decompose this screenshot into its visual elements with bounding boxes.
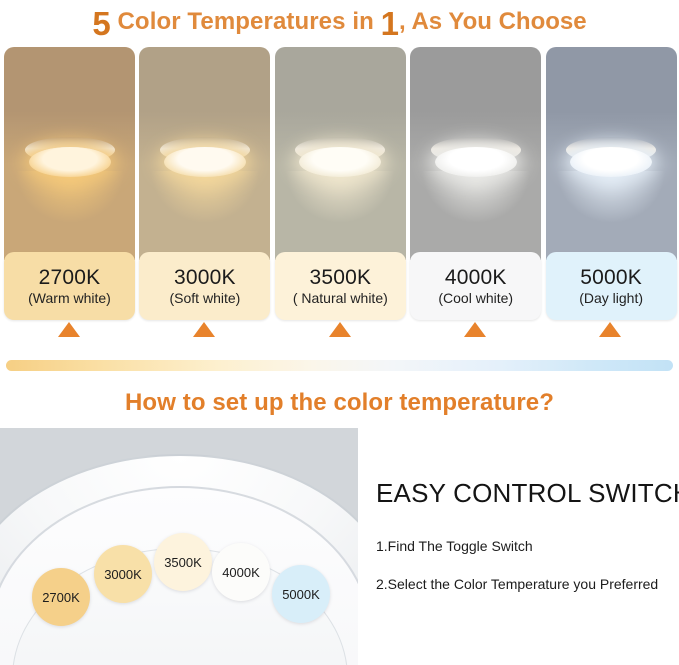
instruction-step-2: 2.Select the Color Temperature you Prefe… [376, 577, 679, 591]
card-label-3500k: 3500K ( Natural white) [275, 252, 406, 320]
bubble-5000k[interactable]: 5000K [272, 565, 330, 623]
temperature-card-4000k[interactable]: 4000K (Cool white) [410, 47, 539, 332]
light-glow [410, 171, 541, 260]
card-photo-2700k [4, 47, 135, 260]
setup-panel: 2700K 3000K 3500K 4000K 5000K 2700K 3000… [0, 428, 679, 665]
card-marker-triangle-icon [193, 322, 215, 337]
color-name: ( Natural white) [293, 291, 388, 305]
temperature-card-2700k[interactable]: 2700K (Warm white) [4, 47, 133, 332]
bubble-3500k[interactable]: 3500K [154, 533, 212, 591]
card-photo-4000k [410, 47, 541, 260]
instructions-pane: EASY CONTROL SWITCH 1.Find The Toggle Sw… [358, 428, 679, 665]
bubble-2700k[interactable]: 2700K [32, 568, 90, 626]
light-glow [546, 171, 677, 260]
instructions-title: EASY CONTROL SWITCH [376, 480, 679, 506]
light-glow [139, 171, 270, 260]
infographic-page: 5 Color Temperatures in 1, As You Choose… [0, 0, 679, 665]
ceiling-light-fixture [563, 137, 659, 179]
fixture-lens [570, 147, 652, 177]
card-label-2700k: 2700K (Warm white) [4, 252, 135, 320]
light-glow [4, 171, 135, 260]
section-heading: How to set up the color temperature? [0, 385, 679, 421]
fixture-lens [435, 147, 517, 177]
card-label-3000k: 3000K (Soft white) [139, 252, 270, 320]
card-photo-3000k [139, 47, 270, 260]
headline-text-end: , As You Choose [399, 8, 587, 36]
card-marker-triangle-icon [464, 322, 486, 337]
color-name: (Cool white) [438, 291, 513, 305]
kelvin-value: 5000K [580, 267, 642, 288]
bubble-3000k[interactable]: 3000K [94, 545, 152, 603]
color-name: (Day light) [579, 291, 643, 305]
ceiling-light-fixture [22, 137, 118, 179]
fixture-lens [299, 147, 381, 177]
ceiling-light-fixture [157, 137, 253, 179]
card-photo-5000k [546, 47, 677, 260]
color-temperature-card-row: 2700K (Warm white) 3000K (Soft white) [4, 47, 675, 332]
fixture-lens [29, 147, 111, 177]
light-glow [275, 171, 406, 260]
kelvin-value: 4000K [445, 267, 507, 288]
page-title: 5 Color Temperatures in 1, As You Choose [0, 0, 679, 44]
kelvin-value: 2700K [39, 267, 101, 288]
gradient-divider [6, 360, 673, 371]
card-marker-triangle-icon [599, 322, 621, 337]
ceiling-light-fixture [428, 137, 524, 179]
switch-photo: 2700K 3000K 3500K 4000K 5000K 2700K 3000… [0, 428, 358, 665]
headline-text-middle: Color Temperatures in [111, 8, 381, 36]
color-name: (Warm white) [28, 291, 111, 305]
color-name: (Soft white) [170, 291, 241, 305]
ceiling-light-fixture [292, 137, 388, 179]
temperature-card-5000k[interactable]: 5000K (Day light) [546, 47, 675, 332]
headline-number-one: 1 [381, 7, 399, 40]
card-marker-triangle-icon [58, 322, 80, 337]
card-label-5000k: 5000K (Day light) [546, 252, 677, 320]
temperature-card-3000k[interactable]: 3000K (Soft white) [139, 47, 268, 332]
headline-number-five: 5 [92, 7, 110, 40]
instruction-step-1: 1.Find The Toggle Switch [376, 539, 679, 553]
card-label-4000k: 4000K (Cool white) [410, 252, 541, 320]
card-marker-triangle-icon [329, 322, 351, 337]
kelvin-value: 3500K [309, 267, 371, 288]
bubble-4000k[interactable]: 4000K [212, 543, 270, 601]
temperature-card-3500k[interactable]: 3500K ( Natural white) [275, 47, 404, 332]
card-photo-3500k [275, 47, 406, 260]
kelvin-value: 3000K [174, 267, 236, 288]
fixture-lens [164, 147, 246, 177]
